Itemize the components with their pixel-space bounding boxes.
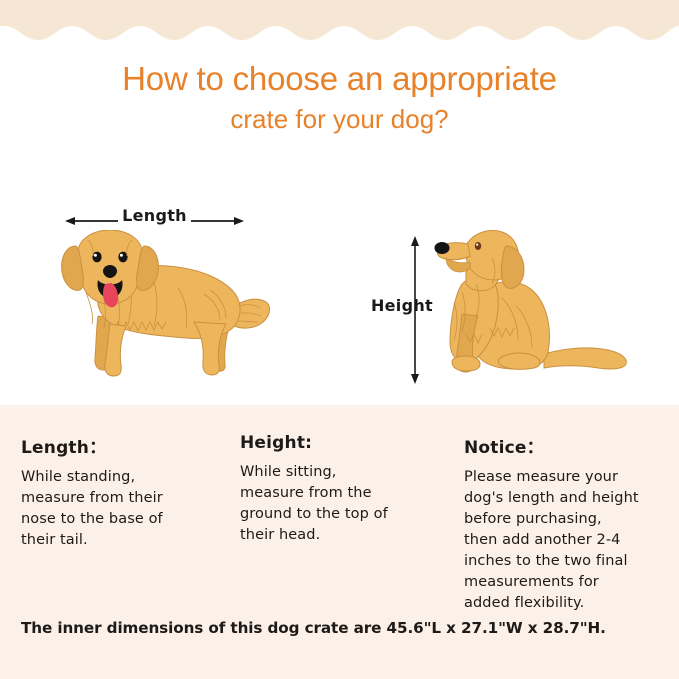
- golden-retriever-sitting-illustration: [432, 228, 632, 380]
- column-height-heading: Height:: [240, 433, 455, 453]
- text-line: their tail.: [21, 530, 231, 551]
- column-notice: Notice： Please measure your dog's length…: [464, 433, 669, 614]
- illustration-area: Length: [0, 190, 679, 405]
- height-label: Height: [355, 296, 433, 315]
- title-line-1: How to choose an appropriate: [0, 62, 679, 95]
- columns-container: Length： While standing, measure from the…: [0, 405, 679, 600]
- page-title: How to choose an appropriate crate for y…: [0, 62, 679, 132]
- text-line: then add another 2-4: [464, 530, 669, 551]
- text-line: measure from their: [21, 488, 231, 509]
- column-height: Height: While sitting, measure from the …: [240, 433, 455, 546]
- text-line: While standing,: [21, 467, 231, 488]
- column-length: Length： While standing, measure from the…: [21, 433, 231, 551]
- title-line-2: crate for your dog?: [0, 106, 679, 132]
- infographic-page: How to choose an appropriate crate for y…: [0, 0, 679, 679]
- text-line: ground to the top of: [240, 504, 455, 525]
- column-notice-body: Please measure your dog's length and hei…: [464, 467, 669, 614]
- crate-dimensions-note: The inner dimensions of this dog crate a…: [21, 619, 671, 637]
- text-line: measure from the: [240, 483, 455, 504]
- text-line: before purchasing,: [464, 509, 669, 530]
- text-line: added flexibility.: [464, 593, 669, 614]
- text-line: inches to the two final: [464, 551, 669, 572]
- column-height-body: While sitting, measure from the ground t…: [240, 462, 455, 546]
- golden-retriever-standing-illustration: [58, 230, 273, 378]
- column-notice-heading: Notice：: [464, 433, 669, 458]
- scalloped-header-band: [0, 0, 679, 42]
- text-line: dog's length and height: [464, 488, 669, 509]
- column-length-heading: Length：: [21, 433, 231, 458]
- length-label: Length: [62, 206, 247, 225]
- text-line: While sitting,: [240, 462, 455, 483]
- text-line: Please measure your: [464, 467, 669, 488]
- text-line: their head.: [240, 525, 455, 546]
- column-length-body: While standing, measure from their nose …: [21, 467, 231, 551]
- text-line: measurements for: [464, 572, 669, 593]
- text-line: nose to the base of: [21, 509, 231, 530]
- lower-section: Length： While standing, measure from the…: [0, 405, 679, 679]
